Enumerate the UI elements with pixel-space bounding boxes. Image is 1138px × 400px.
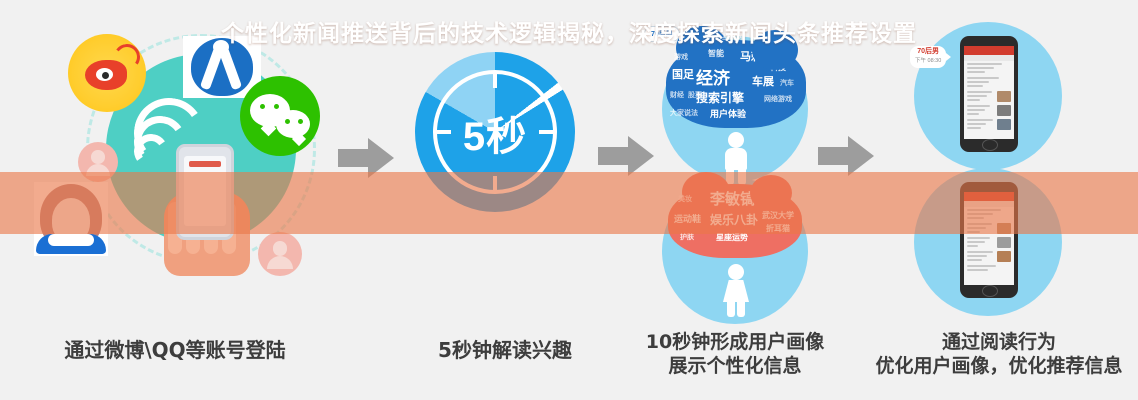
arrow-step3-to-step4	[818, 136, 874, 176]
caption-step-profile-line2: 展示个性化信息	[600, 354, 870, 378]
word-cloud-term: 财经	[670, 92, 684, 99]
caption-step-optimize: 通过阅读行为 优化用户画像，优化推荐信息	[860, 330, 1138, 379]
caption-step-login: 通过微博\QQ等账号登陆	[10, 338, 340, 364]
caption-step-profile: 10秒钟形成用户画像 展示个性化信息	[600, 330, 870, 379]
word-cloud-term: 车展	[752, 77, 774, 88]
word-cloud-term: 搜索引擎	[696, 92, 744, 104]
user-silhouette-icon	[258, 232, 302, 276]
arrow-step2-to-step3	[598, 136, 654, 176]
caption-step-profile-line1: 10秒钟形成用户画像	[600, 330, 870, 354]
infographic-canvas: 5秒 经济 马刺队 国足 车展 搜索引擎 用户体验 科技 互联网 智能 游戏 财…	[0, 0, 1138, 400]
word-cloud-term: 经济	[696, 70, 730, 87]
step-profile-illustration: 经济 马刺队 国足 车展 搜索引擎 用户体验 科技 互联网 智能 游戏 财经 股…	[648, 18, 838, 318]
word-cloud-term: 股票	[688, 92, 702, 99]
dial-label: 5秒	[415, 104, 575, 162]
word-cloud-term: 网络游戏	[764, 96, 792, 103]
word-cloud-term: 用户体验	[710, 110, 746, 119]
page-title: 个性化新闻推送背后的技术逻辑揭秘，深度探索新闻头条推荐设置	[0, 0, 1138, 62]
word-cloud-term: 科技	[770, 64, 786, 72]
word-cloud-term: 护肤	[680, 234, 694, 241]
caption-step-optimize-line1: 通过阅读行为	[860, 330, 1138, 354]
word-cloud-term: 国足	[672, 70, 694, 81]
word-cloud-term: 汽车	[780, 80, 794, 87]
word-cloud-term: 大家说法	[670, 110, 698, 117]
title-overlay-band	[0, 172, 1138, 234]
caption-step-optimize-line2: 优化用户画像，优化推荐信息	[860, 354, 1138, 378]
caption-step-interest: 5秒钟解读兴趣	[390, 338, 620, 364]
word-cloud-term: 星座运势	[716, 234, 748, 242]
wechat-icon	[240, 76, 320, 156]
female-figure-icon	[723, 264, 749, 316]
